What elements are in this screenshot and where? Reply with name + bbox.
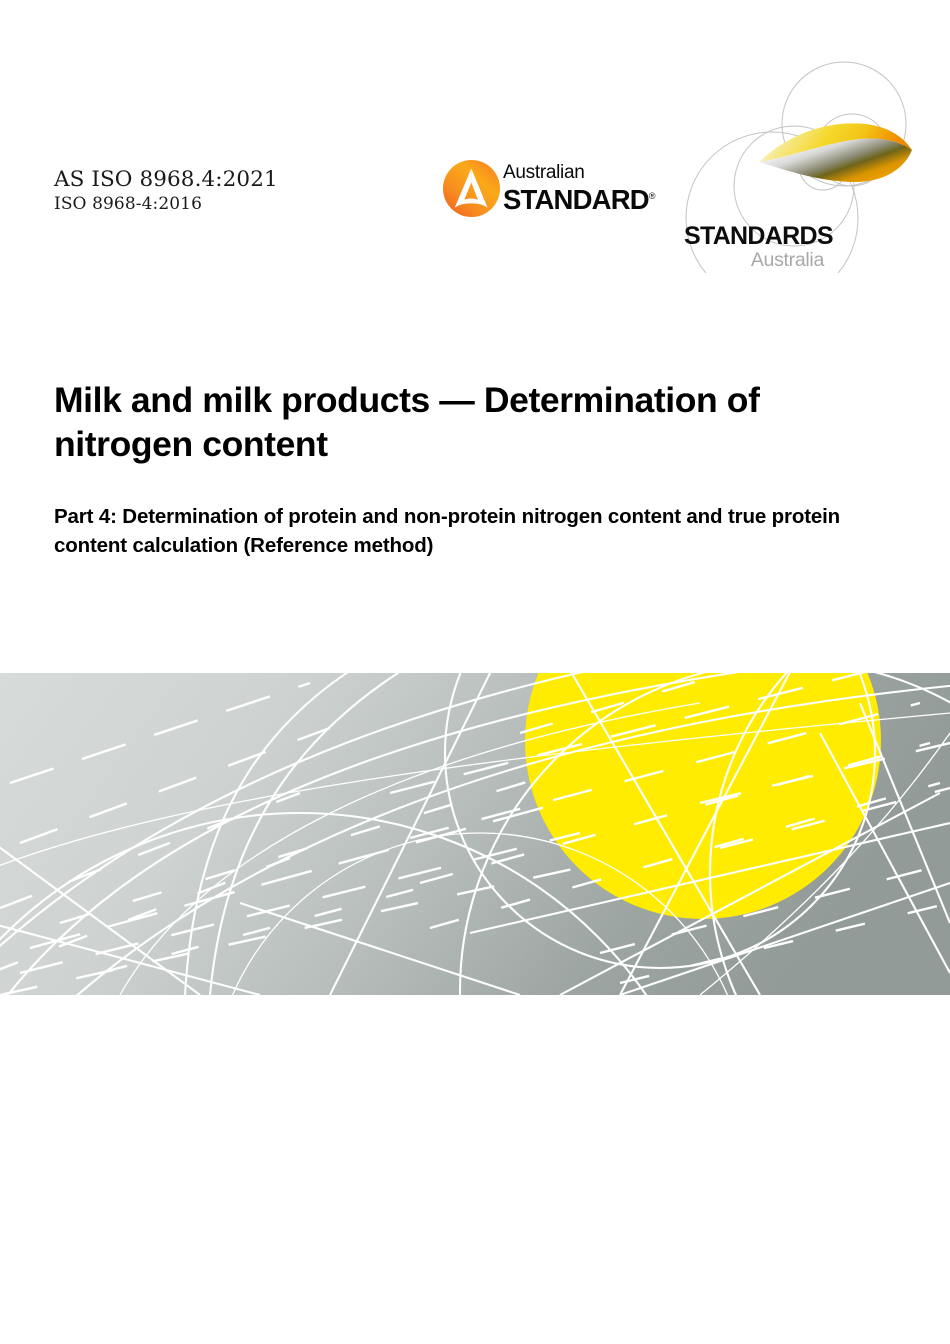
australian-standard-word-bottom: STANDARD: [503, 184, 649, 215]
decorative-banner: [0, 673, 950, 995]
title-block: Milk and milk products — Determination o…: [54, 378, 884, 560]
document-title: Milk and milk products — Determination o…: [54, 378, 854, 466]
banner-graphic: [0, 673, 950, 995]
standard-number-secondary: ISO 8968-4:2016: [54, 193, 278, 216]
standards-australia-word-top: STANDARDS: [684, 224, 824, 249]
australian-standard-wordmark: Australian STANDARD®: [503, 163, 643, 214]
cover-header: AS ISO 8968.4:2021 ISO 8968-4:2016: [0, 0, 950, 280]
standards-australia-logo: STANDARDS Australia: [676, 58, 926, 273]
standards-australia-wordmark: STANDARDS Australia: [684, 224, 824, 271]
document-cover-page: AS ISO 8968.4:2021 ISO 8968-4:2016: [0, 0, 950, 1344]
australian-standard-logo: Australian STANDARD®: [443, 158, 643, 220]
australian-standard-word-top: Australian: [503, 163, 643, 182]
standard-number-primary: AS ISO 8968.4:2021: [54, 166, 278, 193]
standards-australia-word-bottom: Australia: [684, 250, 824, 271]
registered-trademark-icon: ®: [649, 191, 656, 201]
australian-standard-mark-icon: [443, 160, 500, 217]
document-subtitle: Part 4: Determination of protein and non…: [54, 466, 864, 560]
document-identifiers: AS ISO 8968.4:2021 ISO 8968-4:2016: [54, 166, 278, 216]
